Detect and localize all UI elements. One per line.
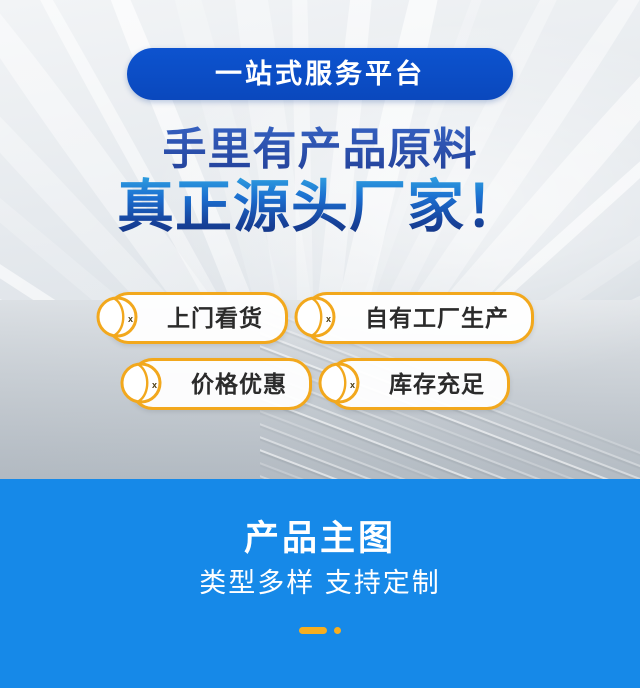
headline-line-2: 真正源头厂家！ [0, 176, 640, 240]
svg-text:x: x [326, 314, 331, 324]
pagination-active-indicator[interactable] [299, 627, 327, 634]
feature-tag-good-price[interactable]: x 价格优惠 [130, 358, 312, 410]
svg-text:x: x [128, 314, 133, 324]
circle-arrow-icon: x [293, 290, 347, 344]
feature-tag-own-factory[interactable]: x 自有工厂生产 [304, 292, 534, 344]
service-platform-badge-label: 一站式服务平台 [215, 61, 425, 88]
circle-arrow-icon: x [95, 290, 149, 344]
feature-tag-sufficient-stock[interactable]: x 库存充足 [328, 358, 510, 410]
feature-tag-label: 上门看货 [167, 307, 263, 330]
circle-arrow-icon: x [317, 356, 371, 410]
product-main-image-section: 产品主图 类型多样 支持定制 [0, 479, 640, 688]
service-platform-badge[interactable]: 一站式服务平台 [127, 48, 513, 100]
svg-text:x: x [152, 380, 157, 390]
feature-tag-row: x 上门看货 x 自有工厂生产 [0, 292, 640, 344]
feature-tag-label: 自有工厂生产 [365, 307, 509, 330]
pagination-dot[interactable] [334, 627, 341, 634]
headline-block: 手里有产品原料 真正源头厂家！ [0, 126, 640, 239]
feature-tag-label: 库存充足 [389, 373, 485, 396]
headline-line-1: 手里有产品原料 [0, 126, 640, 174]
section-title: 产品主图 [0, 479, 640, 559]
circle-arrow-icon: x [119, 356, 173, 410]
feature-tag-row: x 价格优惠 x 库存充足 [0, 358, 640, 410]
feature-tag-onsite-inspection[interactable]: x 上门看货 [106, 292, 288, 344]
feature-tag-label: 价格优惠 [191, 373, 287, 396]
promo-banner-page: 一站式服务平台 手里有产品原料 真正源头厂家！ x 上门看货 [0, 0, 640, 688]
svg-text:x: x [350, 380, 355, 390]
feature-tag-list: x 上门看货 x 自有工厂生产 [0, 292, 640, 424]
carousel-pagination[interactable] [0, 627, 640, 634]
section-subtitle: 类型多样 支持定制 [0, 569, 640, 599]
